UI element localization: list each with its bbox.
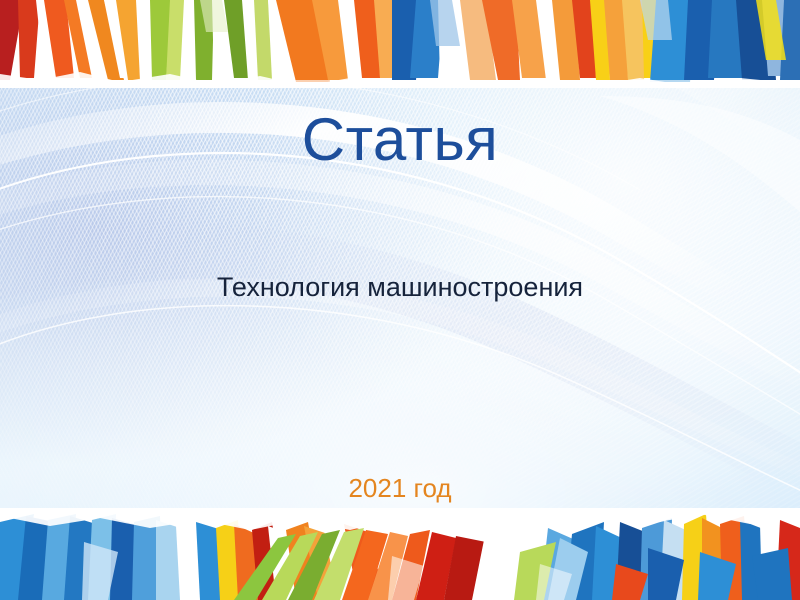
slide-subtitle: Технология машиностроения: [0, 272, 800, 303]
bottom-decorative-band: [0, 508, 800, 600]
slide-canvas: Статья Технология машиностроения 2021 го…: [0, 0, 800, 600]
slide-title: Статья: [0, 108, 800, 171]
slide-year: 2021 год: [0, 473, 800, 504]
top-decorative-band: [0, 0, 800, 88]
